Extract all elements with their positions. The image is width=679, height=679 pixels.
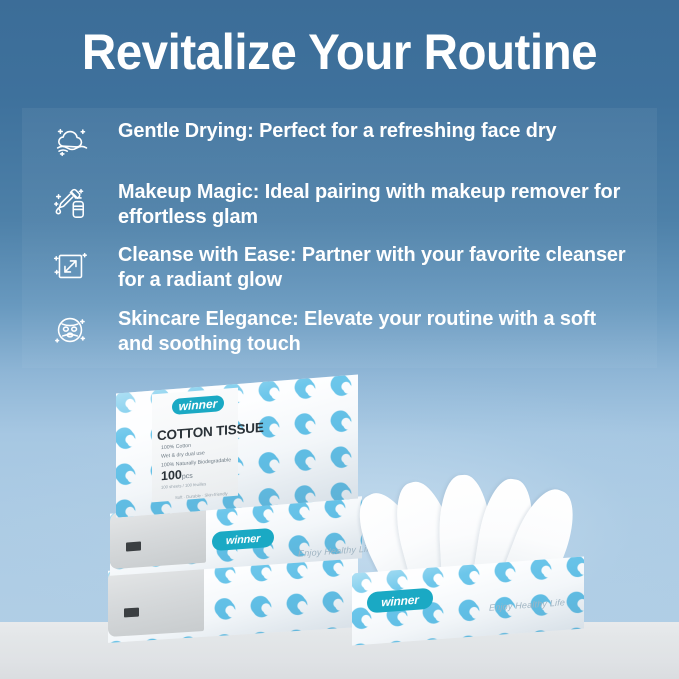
- brand-logo-text: winner: [381, 592, 418, 609]
- product-marketing-image: Revitalize Your Routine Gentle Drying: P…: [0, 0, 679, 679]
- feature-item-skincare-elegance: Skincare Elegance: Elevate your routine …: [22, 306, 657, 356]
- feature-item-gentle-drying: Gentle Drying: Perfect for a refreshing …: [22, 118, 657, 164]
- dropper-bottle-icon: [22, 179, 118, 225]
- expand-square-icon: [22, 242, 118, 288]
- pack-opening-tab: [126, 541, 141, 551]
- feature-label: Cleanse with Ease: Partner with your fav…: [118, 242, 641, 292]
- brand-logo-text: winner: [226, 532, 260, 546]
- feature-label: Gentle Drying: Perfect for a refreshing …: [118, 118, 641, 143]
- floor-surface: [0, 622, 679, 679]
- feature-item-makeup-magic: Makeup Magic: Ideal pairing with makeup …: [22, 179, 657, 229]
- label-brand-text: winner: [179, 396, 218, 413]
- feature-list-panel: Gentle Drying: Perfect for a refreshing …: [22, 108, 657, 368]
- pack-opening-tab: [124, 608, 139, 618]
- feature-item-cleanse-with-ease: Cleanse with Ease: Partner with your fav…: [22, 242, 657, 292]
- feature-label: Makeup Magic: Ideal pairing with makeup …: [118, 179, 641, 229]
- face-mask-icon: [22, 306, 118, 352]
- count-value: 100: [161, 468, 182, 484]
- pack-side-panel-bottom-left: [108, 565, 204, 637]
- count-unit: pcs: [182, 473, 193, 481]
- page-title: Revitalize Your Routine: [17, 26, 662, 79]
- cloud-sparkle-icon: [22, 118, 118, 164]
- feature-label: Skincare Elegance: Elevate your routine …: [118, 306, 641, 356]
